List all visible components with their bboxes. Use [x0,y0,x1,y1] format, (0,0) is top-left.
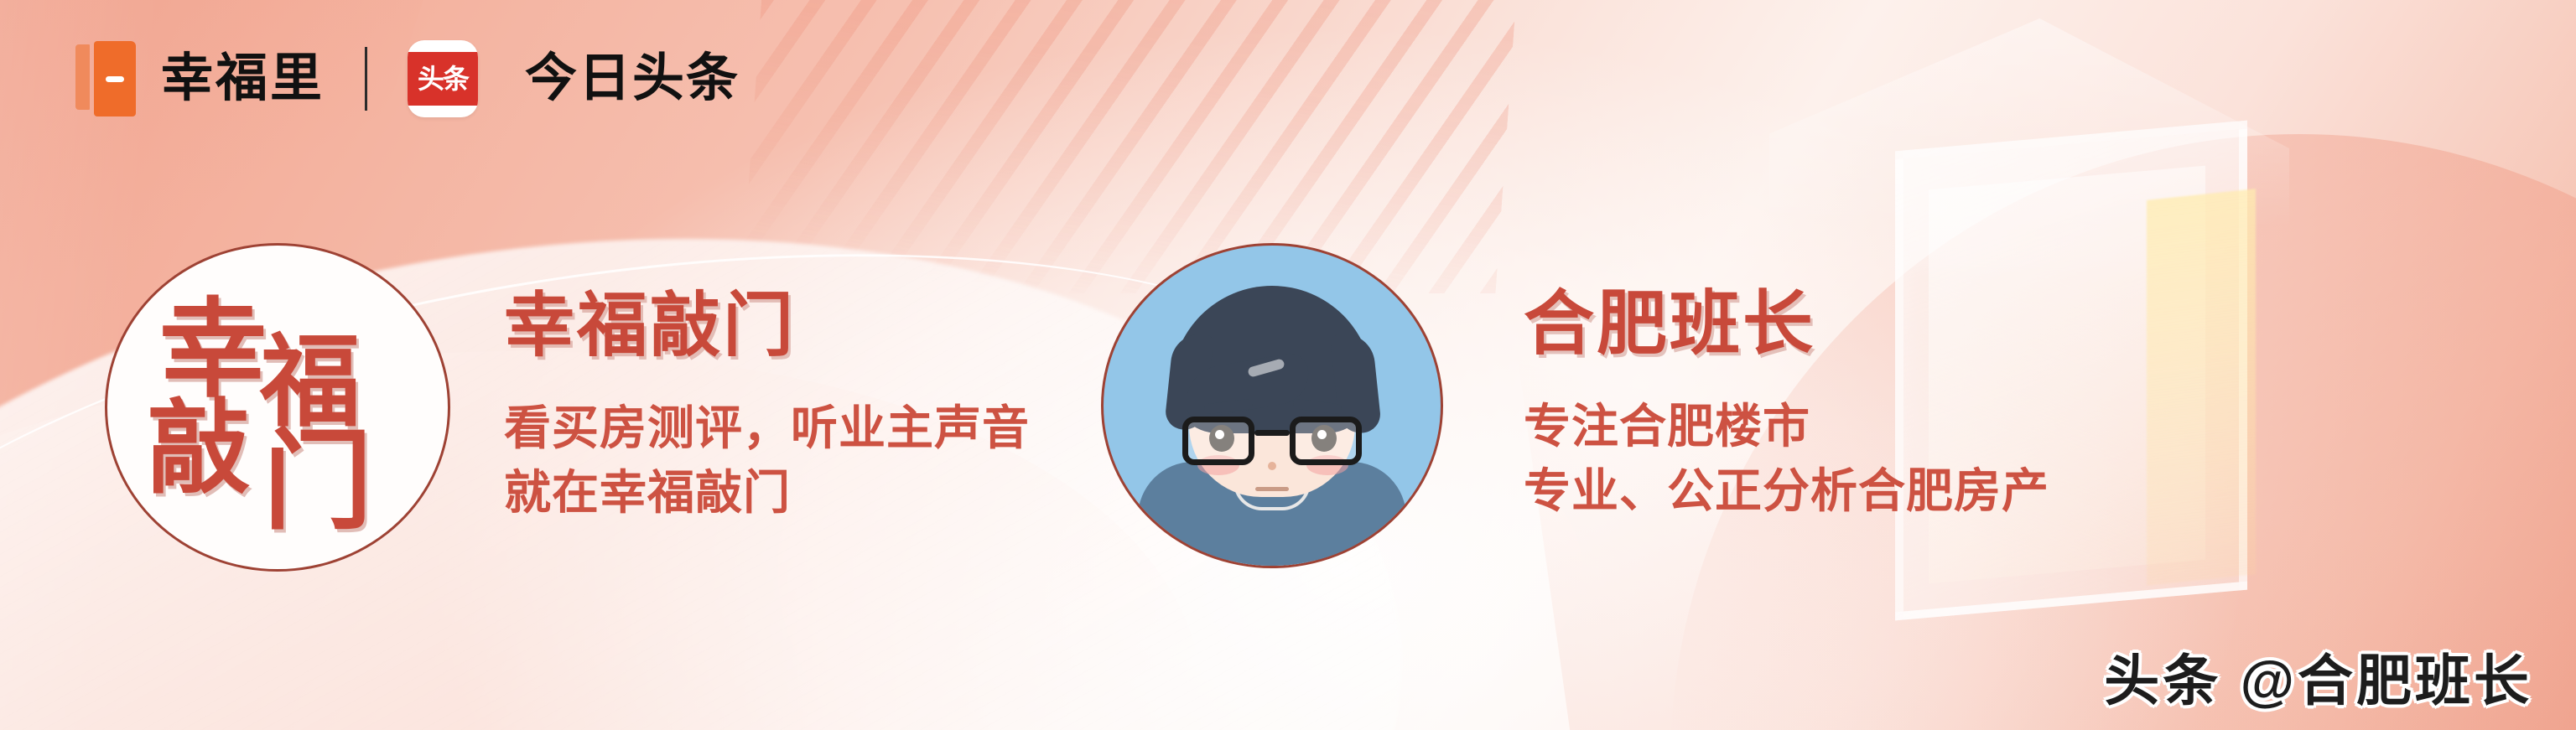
avatar-lens-right-icon [1290,417,1362,465]
wordmark-badge: 幸 福 敲 门 [105,243,450,572]
avatar-glasses-icon [1182,417,1362,465]
panel-left-title: 幸福敲门 [504,290,1030,360]
door-back-panel-icon [75,44,90,110]
promo-banner: 幸福里 头条 今日头条 幸 福 敲 门 幸福敲门 看买房测评 [0,0,2576,730]
door-handle-icon [106,76,124,82]
panel-right-title: 合肥班长 [1524,288,2049,359]
avatar-lens-left-icon [1182,417,1254,465]
badge-char-4: 门 [263,432,372,532]
badge-char-1: 幸 [159,301,267,400]
door-icon [75,41,136,116]
avatar-nose-icon [1268,462,1276,470]
watermark: 头条 @合肥班长 [2104,653,2532,708]
panel-hefei-banzhang[interactable]: 合肥班长 专注合肥楼市 专业、公正分析合肥房产 [1101,243,2049,568]
panel-left-text-block: 幸福敲门 看买房测评，听业主声音 就在幸福敲门 [504,290,1030,525]
panel-xingfu-qiaomen[interactable]: 幸 福 敲 门 幸福敲门 看买房测评，听业主声音 就在幸福敲门 [105,243,1030,572]
header-divider [365,47,367,111]
avatar-mouth-icon [1255,487,1289,491]
avatar [1101,243,1443,568]
panel-right-subtitle-2: 专业、公正分析合肥房产 [1524,458,2049,523]
panel-right-text-block: 合肥班长 专注合肥楼市 专业、公正分析合肥房产 [1524,288,2049,524]
panels-row: 幸 福 敲 门 幸福敲门 看买房测评，听业主声音 就在幸福敲门 [0,243,2576,587]
panel-left-subtitle-2: 就在幸福敲门 [504,460,1030,525]
toutiao-icon-plate: 头条 [408,52,478,106]
toutiao-icon-label: 头条 [418,65,468,92]
doorway-roof-icon [1769,18,2289,228]
banner-header: 幸福里 头条 今日头条 [75,40,740,117]
partner-lockup[interactable]: 头条 今日头条 [408,40,740,117]
panel-left-subtitle-1: 看买房测评，听业主声音 [504,396,1030,460]
brand-name: 幸福里 [161,53,325,105]
toutiao-app-icon: 头条 [408,40,478,117]
brand-lockup[interactable]: 幸福里 [75,41,325,116]
panel-right-subtitle-1: 专注合肥楼市 [1524,394,2049,458]
avatar-glasses-bridge-icon [1254,430,1290,436]
badge-char-2: 福 [260,336,361,428]
partner-name: 今日头条 [525,53,740,105]
badge-char-3: 敲 [148,401,250,495]
